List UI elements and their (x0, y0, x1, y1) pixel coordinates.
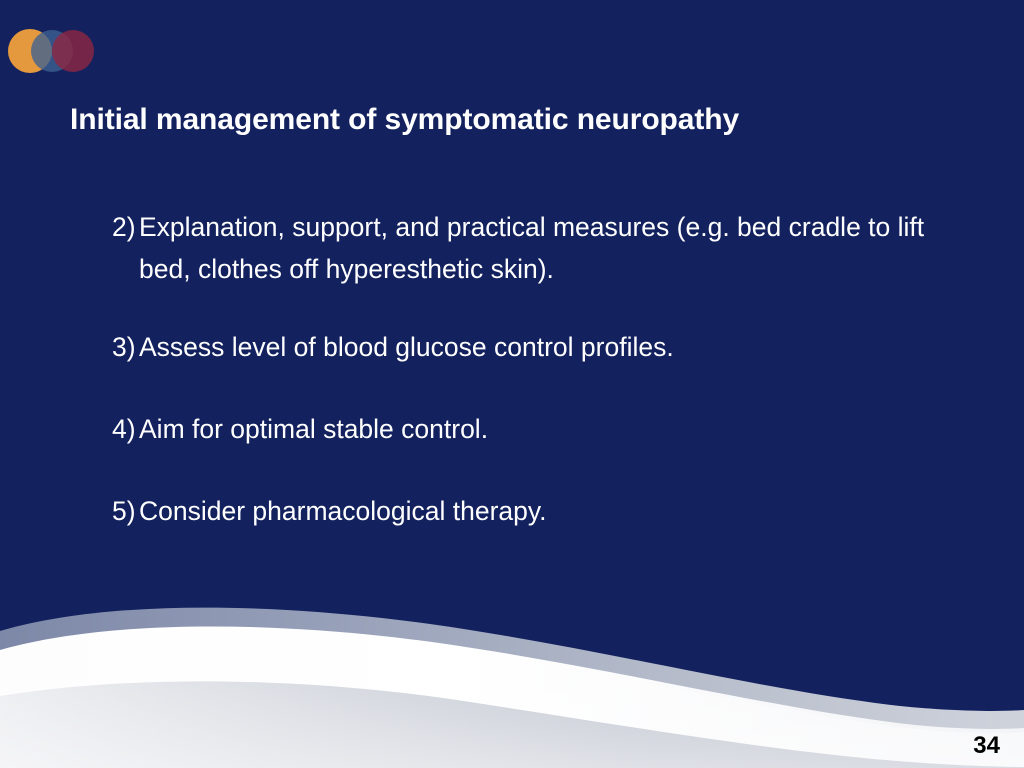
maroon-circle (52, 30, 94, 72)
bottom-wave-decoration (0, 568, 1024, 768)
list-item-text: Aim for optimal stable control. (139, 414, 488, 444)
list-item-text: Consider pharmacological therapy. (139, 496, 547, 526)
body-content: 2)Explanation, support, and practical me… (112, 206, 942, 532)
list-item: 3)Assess level of blood glucose control … (112, 326, 942, 368)
list-item-text: Assess level of blood glucose control pr… (139, 332, 674, 362)
page-title: Initial management of symptomatic neurop… (70, 102, 970, 138)
list-item-marker: 2) (112, 206, 139, 248)
list-item: 4)Aim for optimal stable control. (112, 408, 942, 450)
spacer (112, 368, 942, 408)
list-item-marker: 3) (112, 326, 139, 368)
three-overlapping-circles-logo (6, 27, 102, 75)
spacer (112, 450, 942, 490)
spacer (112, 290, 942, 326)
page-number: 34 (973, 734, 1000, 758)
list-item: 2)Explanation, support, and practical me… (112, 206, 942, 290)
list-item-marker: 4) (112, 408, 139, 450)
list-item-marker: 5) (112, 490, 139, 532)
slide: Initial management of symptomatic neurop… (0, 0, 1024, 768)
list-item-text: Explanation, support, and practical meas… (139, 212, 932, 284)
list-item: 5)Consider pharmacological therapy. (112, 490, 942, 532)
